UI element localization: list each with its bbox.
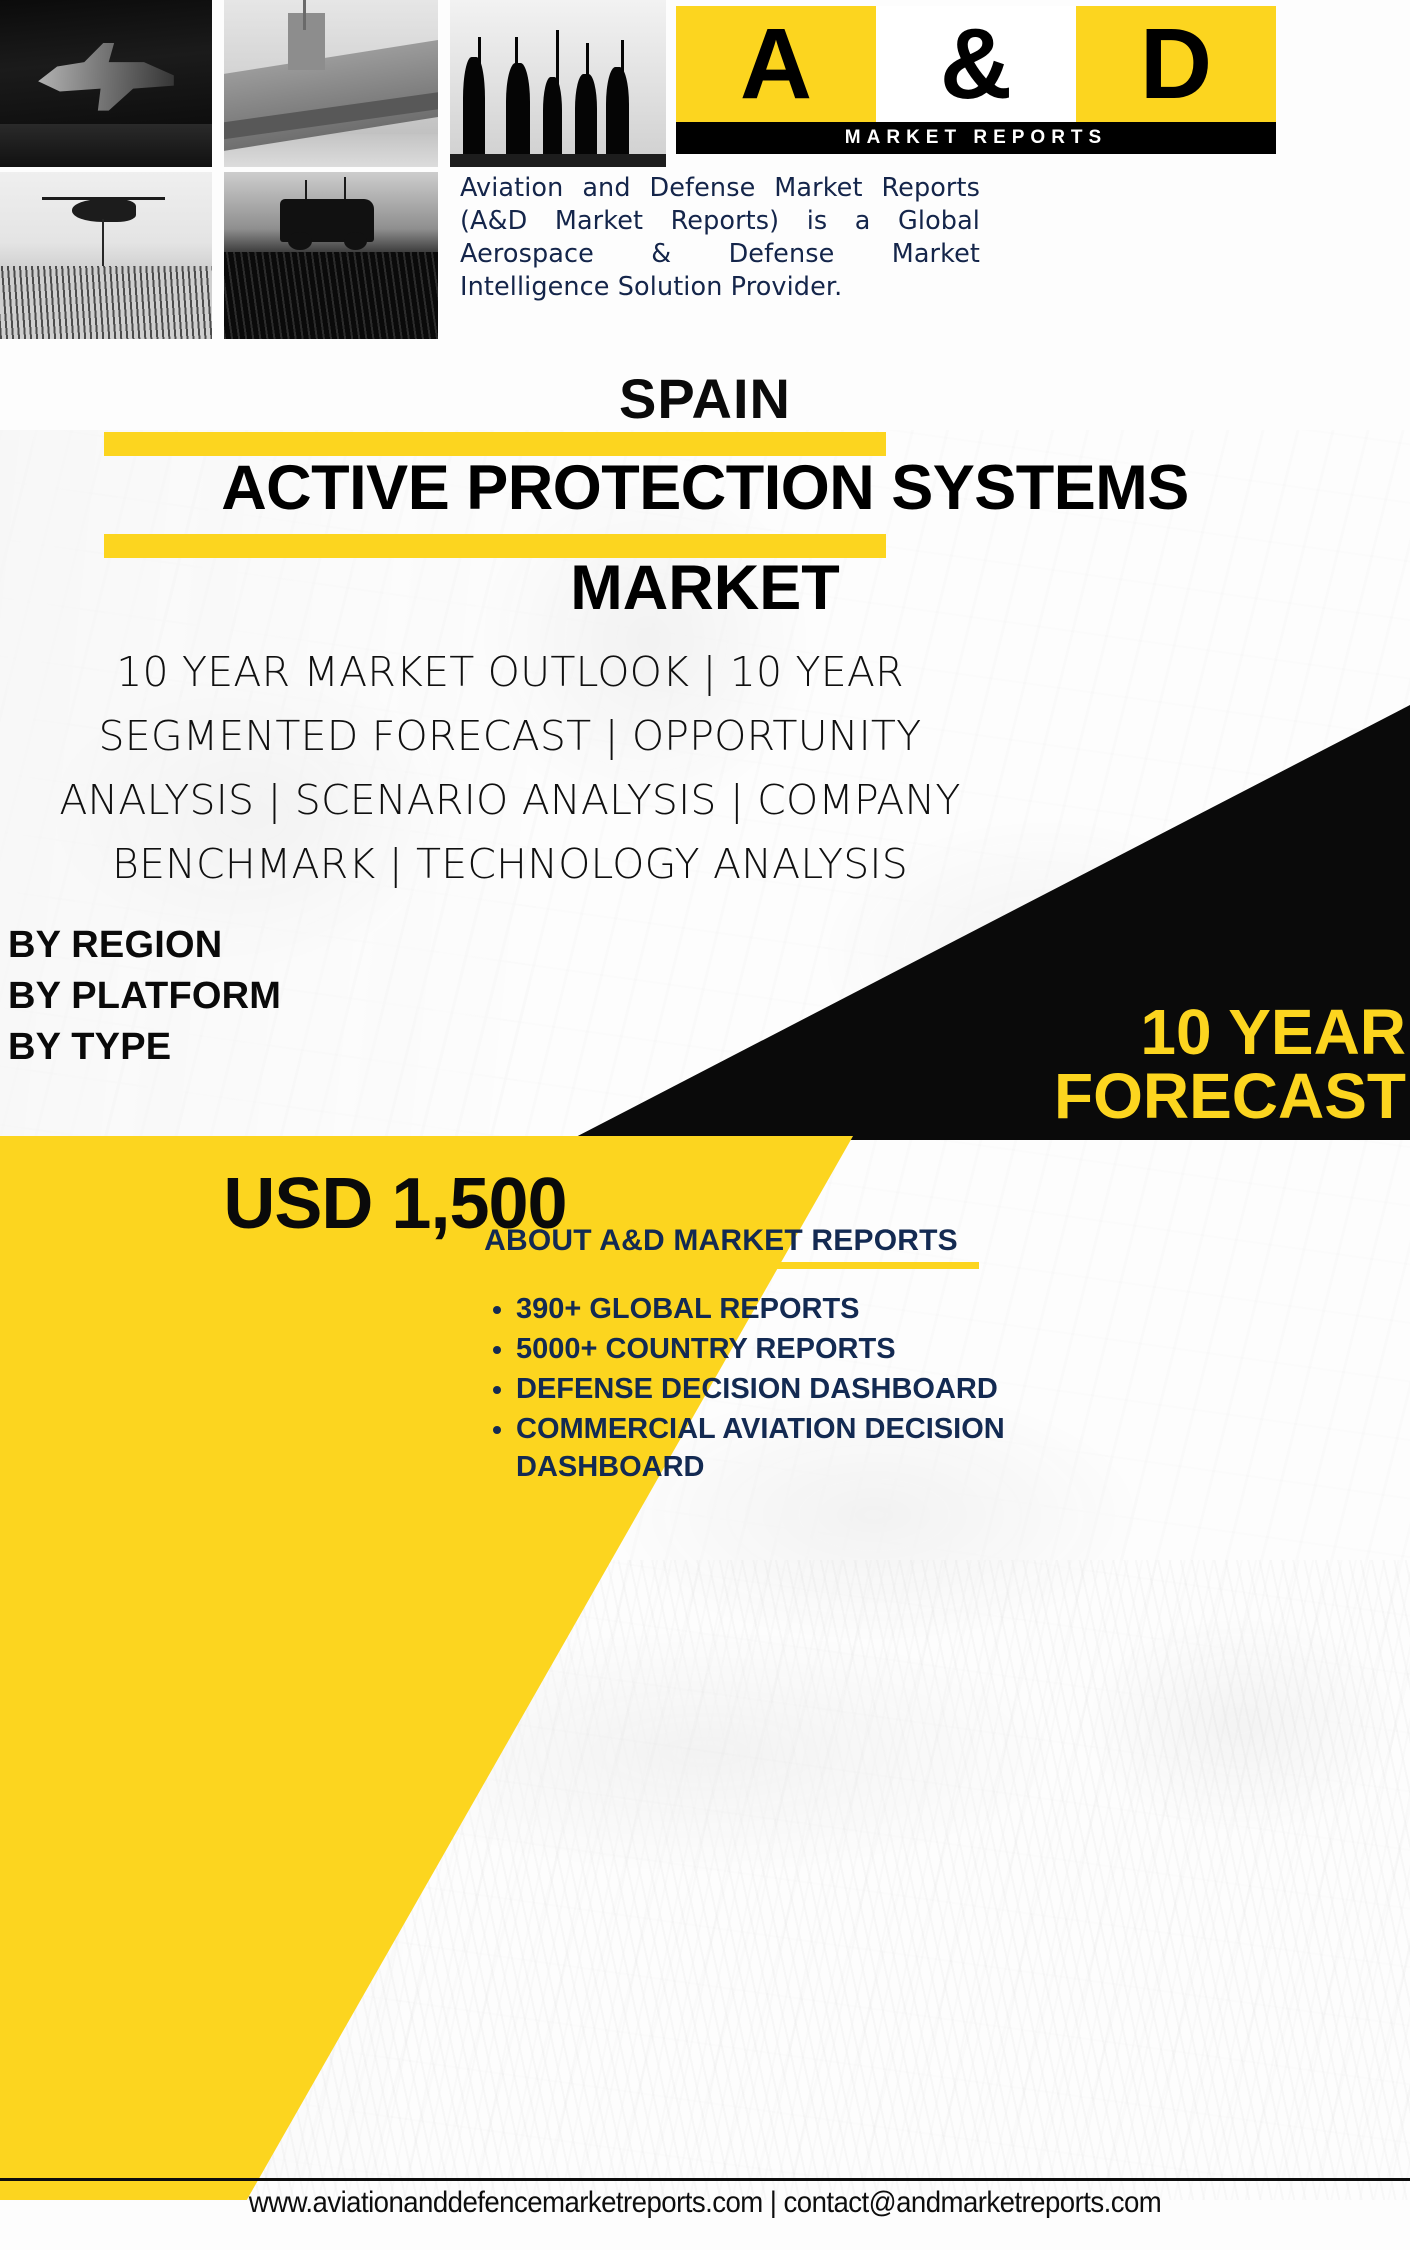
list-item: COMMERCIAL AVIATION DECISION DASHBOARD xyxy=(516,1410,1026,1486)
about-heading: ABOUT A&D MARKET REPORTS xyxy=(456,1224,986,1258)
about-heading-underline xyxy=(459,1262,979,1269)
intro-paragraph: Aviation and Defense Market Reports (A&D… xyxy=(460,172,980,304)
helicopter-field-photo xyxy=(0,172,212,339)
soldiers-silhouette-photo xyxy=(450,0,666,167)
segment-by-type: BY TYPE xyxy=(8,1022,528,1073)
field-grass xyxy=(0,266,212,339)
ground-terrain xyxy=(224,252,438,339)
vehicle-wheel xyxy=(344,232,368,250)
report-subtitle: 10 YEAR MARKET OUTLOOK | 10 YEAR SEGMENT… xyxy=(30,640,990,896)
footer-divider xyxy=(0,2178,1410,2181)
list-item: 390+ GLOBAL REPORTS xyxy=(516,1290,1026,1328)
about-bullet-list: 390+ GLOBAL REPORTS 5000+ COUNTRY REPORT… xyxy=(472,1290,1026,1488)
rifle-icon xyxy=(515,37,518,87)
list-item: DEFENSE DECISION DASHBOARD xyxy=(516,1370,1026,1408)
carrier-tower xyxy=(288,13,324,70)
report-cover-poster: A & D MARKET REPORTS Aviation and Defens… xyxy=(0,0,1410,2250)
helicopter-body xyxy=(72,199,136,222)
logo-letter-ampersand: & xyxy=(876,6,1076,122)
shoreline xyxy=(450,154,666,167)
forecast-badge-line2: FORECAST xyxy=(616,1064,1406,1128)
logo-subtitle-text: MARKET REPORTS xyxy=(845,127,1107,149)
logo-letters: A & D xyxy=(676,6,1276,122)
brand-logo[interactable]: A & D MARKET REPORTS xyxy=(676,6,1276,154)
segmentation-list: BY REGION BY PLATFORM BY TYPE xyxy=(8,920,528,1073)
soldier-figure xyxy=(463,57,485,161)
logo-subtitle-bar: MARKET REPORTS xyxy=(676,122,1276,154)
carrier-mast xyxy=(303,0,306,30)
fast-rope xyxy=(102,219,104,269)
forecast-badge-line1: 10 YEAR xyxy=(616,1000,1406,1064)
armoured-vehicle-photo xyxy=(224,172,438,339)
aircraft-carrier-photo xyxy=(224,0,438,167)
rifle-icon xyxy=(556,30,559,97)
rifle-icon xyxy=(621,40,624,90)
list-item: 5000+ COUNTRY REPORTS xyxy=(516,1330,1026,1368)
report-title-line2: MARKET xyxy=(0,552,1410,624)
footer-contact[interactable]: www.aviationanddefencemarketreports.com … xyxy=(56,2186,1353,2220)
soldier-figure xyxy=(606,67,630,161)
logo-letter-a: A xyxy=(676,6,876,122)
logo-letter-d: D xyxy=(1076,6,1276,122)
rifle-icon xyxy=(586,43,589,93)
segment-by-region: BY REGION xyxy=(8,920,528,971)
fighter-jet-photo xyxy=(0,0,212,167)
vehicle-wheel xyxy=(288,232,312,250)
report-title-line1: ACTIVE PROTECTION SYSTEMS xyxy=(0,452,1410,524)
soldier-figure xyxy=(543,77,562,161)
country-title: SPAIN xyxy=(0,366,1410,431)
rifle-icon xyxy=(478,37,481,84)
soldier-figure xyxy=(506,63,530,160)
forecast-badge: 10 YEAR FORECAST xyxy=(616,1000,1410,1128)
segment-by-platform: BY PLATFORM xyxy=(8,971,528,1022)
